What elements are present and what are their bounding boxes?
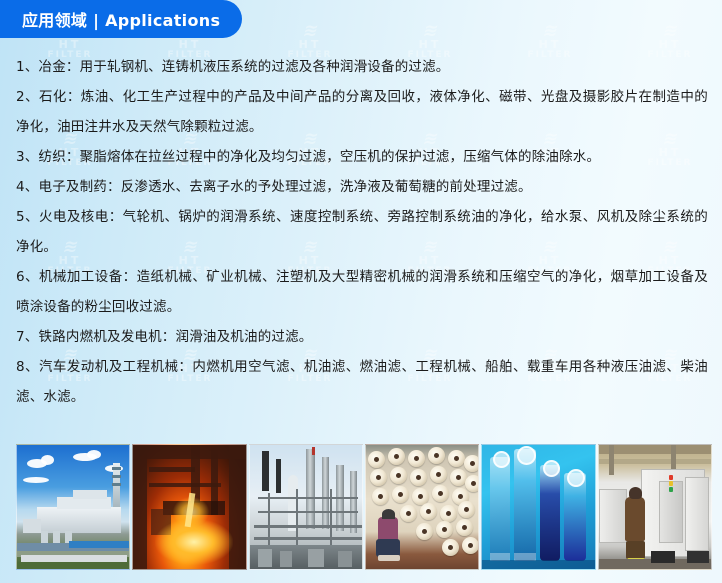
gallery-image-petrochemical-refinery	[249, 444, 363, 570]
gallery-image-textile-spools	[365, 444, 479, 570]
application-item: 5、火电及核电：气轮机、锅炉的润滑系统、速度控制系统、旁路控制系统油的净化，给水…	[16, 202, 708, 262]
applications-page: ≋HTFILTER≋HTFILTER≋HTFILTER≋HTFILTER≋HTF…	[0, 0, 722, 583]
application-item: 1、冶金：用于轧钢机、连铸机液压系统的过滤及各种润滑设备的过滤。	[16, 52, 708, 82]
application-item: 8、汽车发动机及工程机械：内燃机用空气滤、机油滤、燃油滤、工程机械、船舶、载重车…	[16, 352, 708, 412]
applications-list: 1、冶金：用于轧钢机、连铸机液压系统的过滤及各种润滑设备的过滤。2、石化：炼油、…	[0, 52, 722, 412]
gallery-image-steel-furnace	[132, 444, 246, 570]
industry-image-gallery	[16, 444, 712, 570]
application-item: 6、机械加工设备：造纸机械、矿业机械、注塑机及大型精密机械的润滑系统和压缩空气的…	[16, 262, 708, 322]
page-header: 应用领域 | Applications	[0, 0, 722, 44]
application-item: 4、电子及制药：反渗透水、去离子水的予处理过滤，洗净液及葡萄糖的前处理过滤。	[16, 172, 708, 202]
page-title: 应用领域 | Applications	[22, 7, 220, 31]
application-item: 3、纺织：聚脂熔体在拉丝过程中的净化及均匀过滤，空压机的保护过滤，压缩气体的除油…	[16, 142, 708, 172]
gallery-image-laboratory-glassware	[481, 444, 595, 570]
gallery-image-power-plant	[16, 444, 130, 570]
gallery-image-cnc-machining	[598, 444, 712, 570]
application-item: 2、石化：炼油、化工生产过程中的产品及中间产品的分离及回收，液体净化、磁带、光盘…	[16, 82, 708, 142]
application-item: 7、铁路内燃机及发电机：润滑油及机油的过滤。	[16, 322, 708, 352]
section-title-tab: 应用领域 | Applications	[0, 0, 242, 38]
